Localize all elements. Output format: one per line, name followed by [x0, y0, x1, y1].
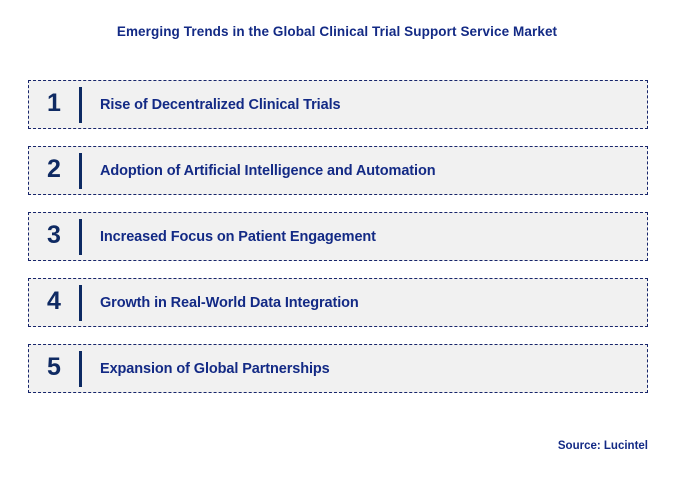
trend-list: 1 Rise of Decentralized Clinical Trials … — [28, 80, 648, 393]
trends-infographic: Emerging Trends in the Global Clinical T… — [0, 0, 674, 484]
trend-rank: 4 — [29, 289, 79, 316]
trend-label: Increased Focus on Patient Engagement — [82, 229, 376, 245]
trend-rank: 1 — [29, 91, 79, 118]
trend-label: Growth in Real-World Data Integration — [82, 295, 359, 311]
trend-rank: 3 — [29, 223, 79, 250]
trend-label: Adoption of Artificial Intelligence and … — [82, 163, 435, 179]
list-item[interactable]: 4 Growth in Real-World Data Integration — [28, 278, 648, 327]
list-item[interactable]: 3 Increased Focus on Patient Engagement — [28, 212, 648, 261]
trend-label: Rise of Decentralized Clinical Trials — [82, 97, 340, 113]
trend-rank: 2 — [29, 157, 79, 184]
page-title: Emerging Trends in the Global Clinical T… — [0, 24, 674, 39]
list-item[interactable]: 5 Expansion of Global Partnerships — [28, 344, 648, 393]
source-attribution: Source: Lucintel — [0, 440, 648, 452]
list-item[interactable]: 2 Adoption of Artificial Intelligence an… — [28, 146, 648, 195]
trend-label: Expansion of Global Partnerships — [82, 361, 330, 377]
list-item[interactable]: 1 Rise of Decentralized Clinical Trials — [28, 80, 648, 129]
trend-rank: 5 — [29, 355, 79, 382]
